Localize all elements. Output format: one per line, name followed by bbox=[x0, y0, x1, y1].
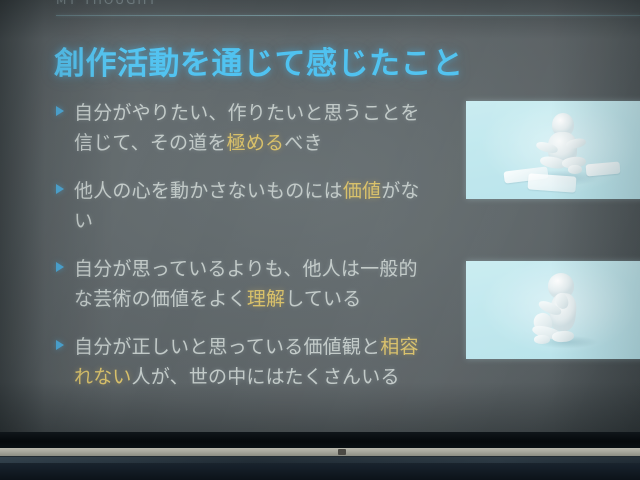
bullet-triangle-icon bbox=[56, 106, 64, 116]
bullet-2-highlight: 価値 bbox=[343, 180, 381, 202]
bullet-4-line1-pre: 自分が正しいと思っている価値観と bbox=[74, 336, 380, 358]
figure-foot bbox=[534, 335, 550, 344]
screen-bar-nub bbox=[338, 449, 346, 455]
bullet-list: 自分がやりたい、作りたいと思うことを 信じて、その道を極めるべき 他人の心を動か… bbox=[52, 98, 452, 392]
bullet-3-highlight: 理解 bbox=[247, 288, 285, 310]
bullet-1-line2-post: べき bbox=[284, 132, 322, 154]
screen-bottom-dark-bar bbox=[0, 432, 640, 449]
image-2-figure bbox=[528, 273, 594, 351]
bullet-1-highlight: 極める bbox=[227, 132, 285, 154]
bullet-4-highlight-cont: れない bbox=[74, 366, 132, 388]
bullet-text-2: 他人の心を動かさないものには価値がな い bbox=[74, 176, 452, 236]
projected-slide-photo: MY THOUGHT 創作活動を通じて感じたこと 自分がやりたい、作りたいと思う… bbox=[0, 0, 640, 480]
table-surface-highlight bbox=[0, 457, 640, 463]
list-item: 自分がやりたい、作りたいと思うことを 信じて、その道を極めるべき bbox=[52, 98, 452, 158]
bullet-3-line1: 自分が思っているよりも、他人は一般的 bbox=[74, 258, 418, 280]
figure-foot bbox=[568, 165, 582, 174]
bullet-triangle-icon bbox=[56, 184, 64, 194]
presentation-slide: MY THOUGHT 創作活動を通じて感じたこと 自分がやりたい、作りたいと思う… bbox=[0, 0, 640, 434]
image-1-figure bbox=[532, 113, 592, 181]
bullet-1-line1: 自分がやりたい、作りたいと思うことを bbox=[74, 102, 420, 124]
bullet-3-line2-pre: な芸術の価値をよく bbox=[74, 288, 247, 310]
bullet-1-line2-pre: 信じて、その道を bbox=[74, 132, 227, 154]
slide-title: 創作活動を通じて感じたこと bbox=[54, 38, 464, 83]
list-item: 他人の心を動かさないものには価値がな い bbox=[52, 176, 452, 236]
slide-image-2 bbox=[466, 261, 640, 359]
bullet-text-4: 自分が正しいと思っている価値観と相容 れない人が、世の中にはたくさんいる bbox=[74, 332, 452, 392]
bullet-3-line2-post: している bbox=[285, 288, 361, 310]
slide-image-1 bbox=[466, 101, 640, 199]
figure-leg-other bbox=[552, 330, 575, 343]
bullet-text-3: 自分が思っているよりも、他人は一般的 な芸術の価値をよく理解している bbox=[74, 254, 452, 314]
bullet-4-line2-post: 人が、世の中にはたくさんいる bbox=[132, 366, 400, 388]
slide-kicker: MY THOUGHT bbox=[56, 0, 158, 7]
bullet-2-line1-post: がな bbox=[381, 180, 419, 202]
list-item: 自分が思っているよりも、他人は一般的 な芸術の価値をよく理解している bbox=[52, 254, 452, 314]
header-divider-rule bbox=[56, 15, 640, 16]
bullet-2-line1-pre: 他人の心を動かさないものには bbox=[74, 180, 343, 202]
bullet-2-line2: い bbox=[74, 210, 93, 232]
bullet-triangle-icon bbox=[56, 262, 64, 272]
bullet-4-highlight: 相容 bbox=[380, 336, 418, 358]
bullet-triangle-icon bbox=[56, 340, 64, 350]
bullet-text-1: 自分がやりたい、作りたいと思うことを 信じて、その道を極めるべき bbox=[74, 98, 452, 158]
list-item: 自分が正しいと思っている価値観と相容 れない人が、世の中にはたくさんいる bbox=[52, 332, 452, 392]
